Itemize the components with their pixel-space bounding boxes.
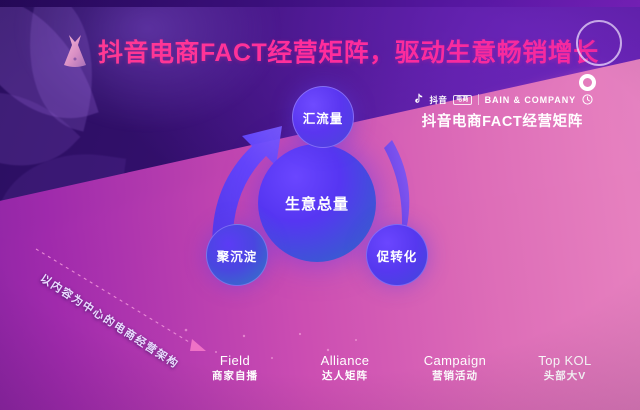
- slide-header: 抖音电商FACT经营矩阵，驱动生意畅销增长: [62, 33, 599, 69]
- legend-en-campaign: Campaign: [400, 352, 510, 369]
- legend-item-topkol[interactable]: Top KOL 头部大V: [510, 352, 620, 384]
- node-conversion-label: 促转化: [377, 246, 418, 265]
- legend-en-field: Field: [180, 352, 290, 369]
- top-edge-bar: [0, 0, 640, 7]
- node-center-label: 生意总量: [285, 193, 349, 214]
- circle-dot-decoration: [579, 74, 596, 91]
- brand-separator: [478, 94, 479, 105]
- legend-item-alliance[interactable]: Alliance 达人矩阵: [290, 352, 400, 384]
- legend-cn-field: 商家自播: [180, 369, 290, 384]
- legend-cn-topkol: 头部大V: [510, 369, 620, 384]
- fact-legend: Field 商家自播 Alliance 达人矩阵 Campaign 营销活动 T…: [180, 352, 620, 384]
- bain-wordmark: BAIN & COMPANY: [485, 95, 576, 105]
- legend-en-topkol: Top KOL: [510, 352, 620, 369]
- legend-en-alliance: Alliance: [290, 352, 400, 369]
- circle-outline-decoration: [576, 20, 622, 66]
- bain-clock-icon: [582, 94, 593, 105]
- dress-icon: [62, 34, 88, 68]
- page-title: 抖音电商FACT经营矩阵，驱动生意畅销增长: [98, 33, 599, 69]
- legend-cn-campaign: 营销活动: [400, 369, 510, 384]
- douyin-ecommerce-pill: 电商: [453, 95, 471, 105]
- legend-cn-alliance: 达人矩阵: [290, 369, 400, 384]
- node-center-total[interactable]: 生意总量: [258, 144, 376, 262]
- node-traffic[interactable]: 汇流量: [292, 86, 354, 148]
- legend-item-field[interactable]: Field 商家自播: [180, 352, 290, 384]
- dashed-arrow-line: [34, 247, 224, 367]
- legend-item-campaign[interactable]: Campaign 营销活动: [400, 352, 510, 384]
- node-conversion[interactable]: 促转化: [366, 224, 428, 286]
- slide-canvas: 抖音电商FACT经营矩阵，驱动生意畅销增长 抖音 电商 BAIN & COMPA…: [0, 0, 640, 410]
- fact-diagram: 生意总量 汇流量 聚沉淀 促转化: [186, 88, 446, 318]
- node-traffic-label: 汇流量: [303, 108, 344, 127]
